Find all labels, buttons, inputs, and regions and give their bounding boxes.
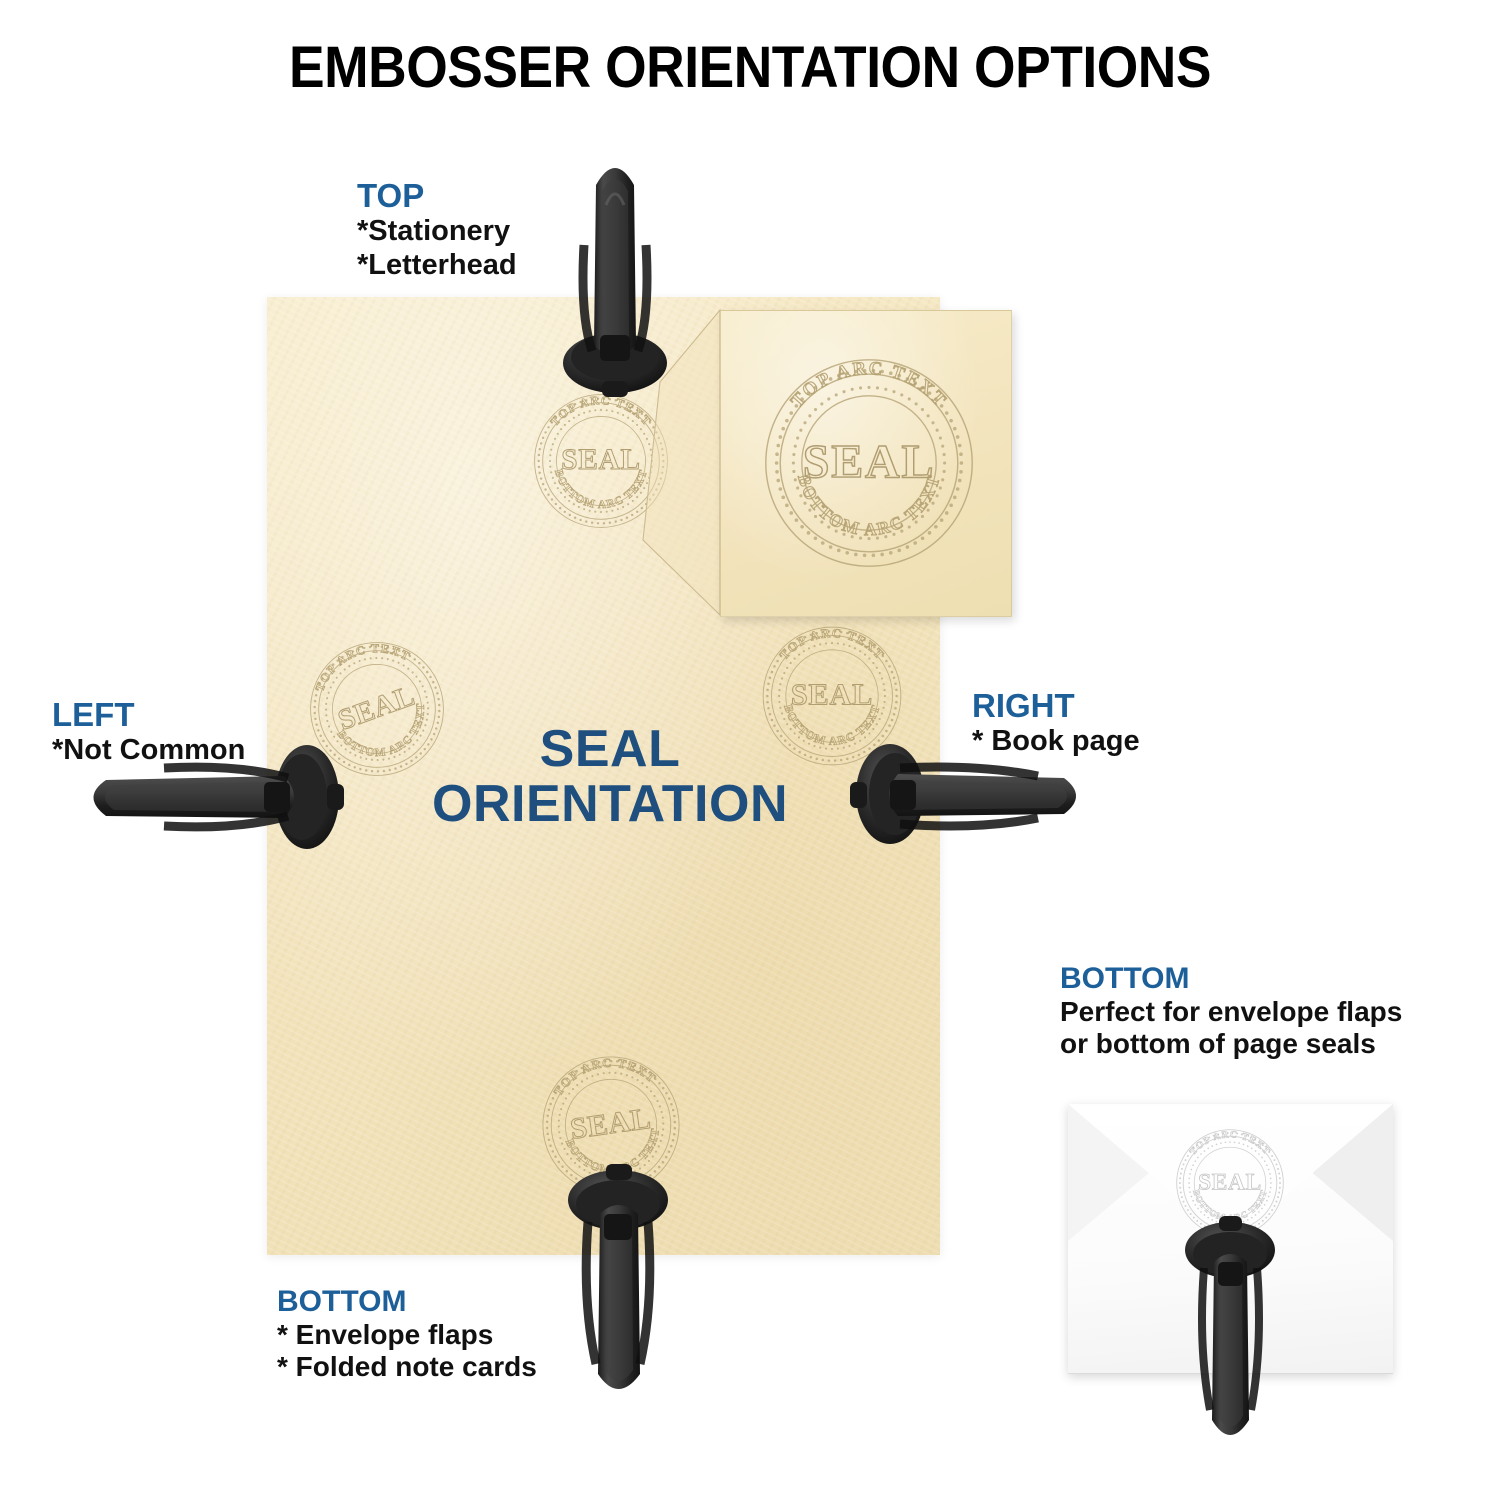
seal-impression-magnified: TOP ARC TEXT BOTTOM ARC TEXT SEAL (749, 343, 989, 583)
seal-center-text: SEAL (561, 444, 640, 476)
embosser-tool-envelope[interactable] (1172, 1206, 1292, 1456)
seal-orientation-caption: SEAL ORIENTATION (330, 722, 890, 832)
label-left: LEFT *Not Common (52, 697, 245, 768)
label-right-line-1: * Book page (972, 725, 1140, 759)
infographic-canvas: EMBOSSER ORIENTATION OPTIONS TOP ARC TEX… (0, 0, 1500, 1500)
label-right: RIGHT * Book page (972, 688, 1140, 759)
label-top: TOP *Stationery *Letterhead (357, 178, 517, 282)
seal-center-text: SEAL (568, 1102, 653, 1146)
magnified-seal-callout: TOP ARC TEXT BOTTOM ARC TEXT SEAL (720, 310, 1012, 617)
label-bottom-heading: BOTTOM (277, 1285, 537, 1319)
label-envelope-line-1: Perfect for envelope flaps (1060, 996, 1402, 1028)
embosser-tool-bottom[interactable] (552, 1152, 692, 1410)
label-envelope-heading: BOTTOM (1060, 962, 1402, 996)
caption-line-2: ORIENTATION (330, 777, 890, 832)
label-top-line-2: *Letterhead (357, 249, 517, 283)
caption-line-1: SEAL (330, 722, 890, 777)
label-envelope-bottom: BOTTOM Perfect for envelope flaps or bot… (1060, 962, 1402, 1061)
svg-text:TOP ARC TEXT: TOP ARC TEXT (787, 358, 952, 412)
label-right-heading: RIGHT (972, 688, 1140, 725)
seal-top-arc-text: TOP ARC TEXT (787, 358, 952, 412)
label-bottom-line-1: * Envelope flaps (277, 1319, 537, 1351)
embosser-tool-top[interactable] (540, 145, 690, 405)
seal-center-text: SEAL (803, 435, 936, 488)
label-left-heading: LEFT (52, 697, 245, 734)
label-bottom: BOTTOM * Envelope flaps * Folded note ca… (277, 1285, 537, 1384)
seal-center-text: SEAL (791, 677, 873, 711)
svg-text:TOP ARC TEXT: TOP ARC TEXT (1188, 1129, 1273, 1157)
label-left-line-1: *Not Common (52, 734, 245, 768)
label-top-line-1: *Stationery (357, 215, 517, 249)
label-top-heading: TOP (357, 178, 517, 215)
page-title: EMBOSSER ORIENTATION OPTIONS (60, 34, 1440, 101)
seal-center-text: SEAL (1198, 1170, 1262, 1196)
label-envelope-line-2: or bottom of page seals (1060, 1028, 1402, 1060)
seal-top-arc-text: TOP ARC TEXT (1188, 1129, 1273, 1157)
label-bottom-line-2: * Folded note cards (277, 1351, 537, 1383)
